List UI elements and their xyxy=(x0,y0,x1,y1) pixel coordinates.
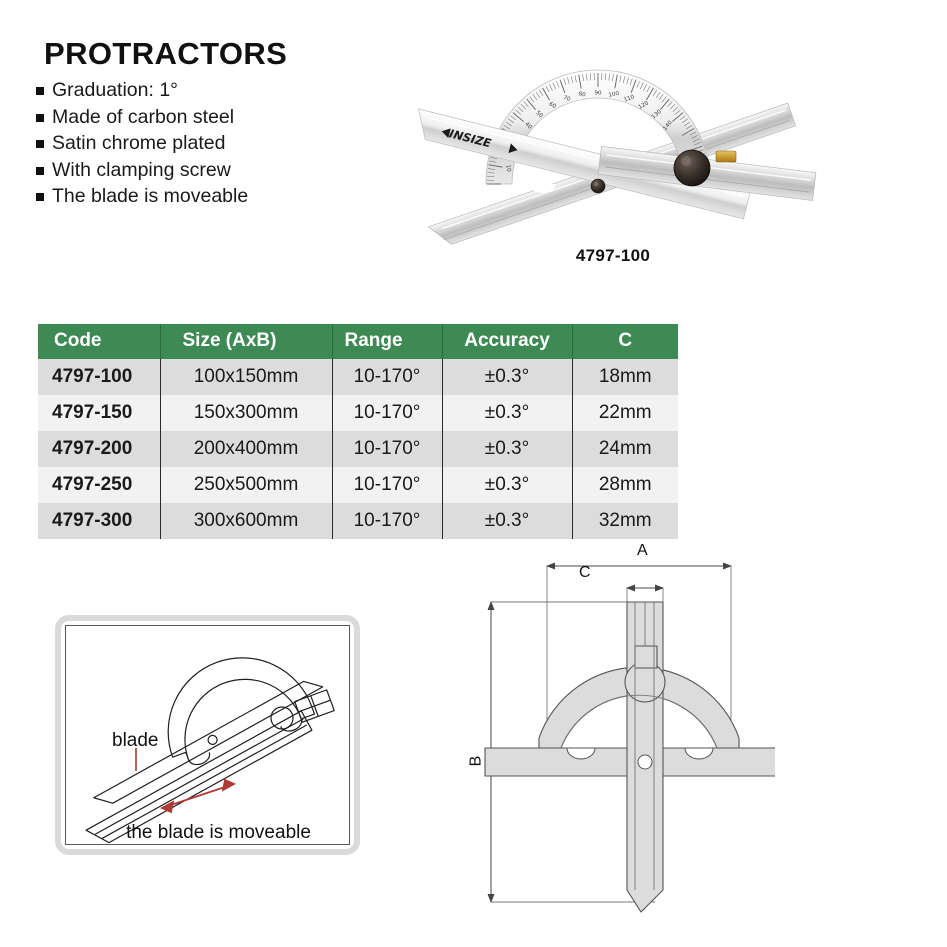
cell-range: 10-170° xyxy=(332,503,442,539)
feature-text: Graduation: 1° xyxy=(52,78,178,104)
brass-clamp xyxy=(716,151,736,162)
cell-range: 10-170° xyxy=(332,431,442,467)
cell-accuracy: ±0.3° xyxy=(442,359,572,395)
feature-list: Graduation: 1° Made of carbon steel Sati… xyxy=(36,78,248,211)
cell-accuracy: ±0.3° xyxy=(442,395,572,431)
cell-code: 4797-150 xyxy=(38,395,160,431)
square-bullet-icon xyxy=(36,114,44,122)
cell-range: 10-170° xyxy=(332,395,442,431)
protractor-product-image: 102030405060708090100110120130140 INSIZE xyxy=(398,36,828,246)
square-bullet-icon xyxy=(36,87,44,95)
clamping-knob xyxy=(674,150,710,186)
cell-code: 4797-250 xyxy=(38,467,160,503)
cell-c: 18mm xyxy=(572,359,678,395)
list-item: Satin chrome plated xyxy=(36,131,248,157)
cell-accuracy: ±0.3° xyxy=(442,431,572,467)
cell-size: 150x300mm xyxy=(160,395,332,431)
protractor-line-drawing xyxy=(66,626,359,854)
svg-text:90: 90 xyxy=(594,91,602,97)
table-row: 4797-150 150x300mm 10-170° ±0.3° 22mm xyxy=(38,395,678,431)
cell-size: 100x150mm xyxy=(160,359,332,395)
list-item: Made of carbon steel xyxy=(36,105,248,131)
product-photo: 102030405060708090100110120130140 INSIZE xyxy=(398,36,828,246)
cell-accuracy: ±0.3° xyxy=(442,467,572,503)
feature-text: Satin chrome plated xyxy=(52,131,225,157)
pivot-screw xyxy=(591,179,605,193)
list-item: Graduation: 1° xyxy=(36,78,248,104)
cell-c: 24mm xyxy=(572,431,678,467)
table-header: Code Size (AxB) Range Accuracy C xyxy=(38,324,678,359)
dimension-label-a: A xyxy=(637,542,648,560)
table-header-row: Code Size (AxB) Range Accuracy C xyxy=(38,324,678,359)
cell-c: 32mm xyxy=(572,503,678,539)
feature-text: Made of carbon steel xyxy=(52,105,234,131)
cell-code: 4797-200 xyxy=(38,431,160,467)
column-header-c: C xyxy=(572,324,678,359)
square-bullet-icon xyxy=(36,193,44,201)
column-header-code: Code xyxy=(38,324,160,359)
blade-moveable-illustration-box: blade the blade is moveable xyxy=(55,615,360,855)
technical-drawing: A C B xyxy=(455,540,775,940)
table-row: 4797-200 200x400mm 10-170° ±0.3° 24mm xyxy=(38,431,678,467)
list-item: The blade is moveable xyxy=(36,184,248,210)
feature-text: The blade is moveable xyxy=(52,184,248,210)
cell-c: 22mm xyxy=(572,395,678,431)
column-header-size: Size (AxB) xyxy=(160,324,332,359)
table-row: 4797-300 300x600mm 10-170° ±0.3° 32mm xyxy=(38,503,678,539)
square-bullet-icon xyxy=(36,140,44,148)
column-header-accuracy: Accuracy xyxy=(442,324,572,359)
moveable-caption: the blade is moveable xyxy=(66,822,371,844)
illustration-inner-border: blade the blade is moveable xyxy=(65,625,350,845)
dimension-drawing-svg xyxy=(455,540,775,940)
page-title: PROTRACTORS xyxy=(44,36,287,72)
dimension-label-b: B xyxy=(467,756,485,767)
table-body: 4797-100 100x150mm 10-170° ±0.3° 18mm 47… xyxy=(38,359,678,539)
table-row: 4797-100 100x150mm 10-170° ±0.3° 18mm xyxy=(38,359,678,395)
specification-table: Code Size (AxB) Range Accuracy C 4797-10… xyxy=(38,324,678,539)
blade-label: blade xyxy=(112,730,159,752)
cell-range: 10-170° xyxy=(332,359,442,395)
square-bullet-icon xyxy=(36,167,44,175)
cell-code: 4797-300 xyxy=(38,503,160,539)
column-header-range: Range xyxy=(332,324,442,359)
cell-size: 200x400mm xyxy=(160,431,332,467)
cell-range: 10-170° xyxy=(332,467,442,503)
cell-size: 300x600mm xyxy=(160,503,332,539)
cell-c: 28mm xyxy=(572,467,678,503)
dimension-label-c: C xyxy=(579,564,591,582)
cell-code: 4797-100 xyxy=(38,359,160,395)
product-caption: 4797-100 xyxy=(398,246,828,266)
feature-text: With clamping screw xyxy=(52,158,231,184)
cell-size: 250x500mm xyxy=(160,467,332,503)
table-row: 4797-250 250x500mm 10-170° ±0.3° 28mm xyxy=(38,467,678,503)
cell-accuracy: ±0.3° xyxy=(442,503,572,539)
catalog-page: PROTRACTORS Graduation: 1° Made of carbo… xyxy=(0,0,947,947)
list-item: With clamping screw xyxy=(36,158,248,184)
